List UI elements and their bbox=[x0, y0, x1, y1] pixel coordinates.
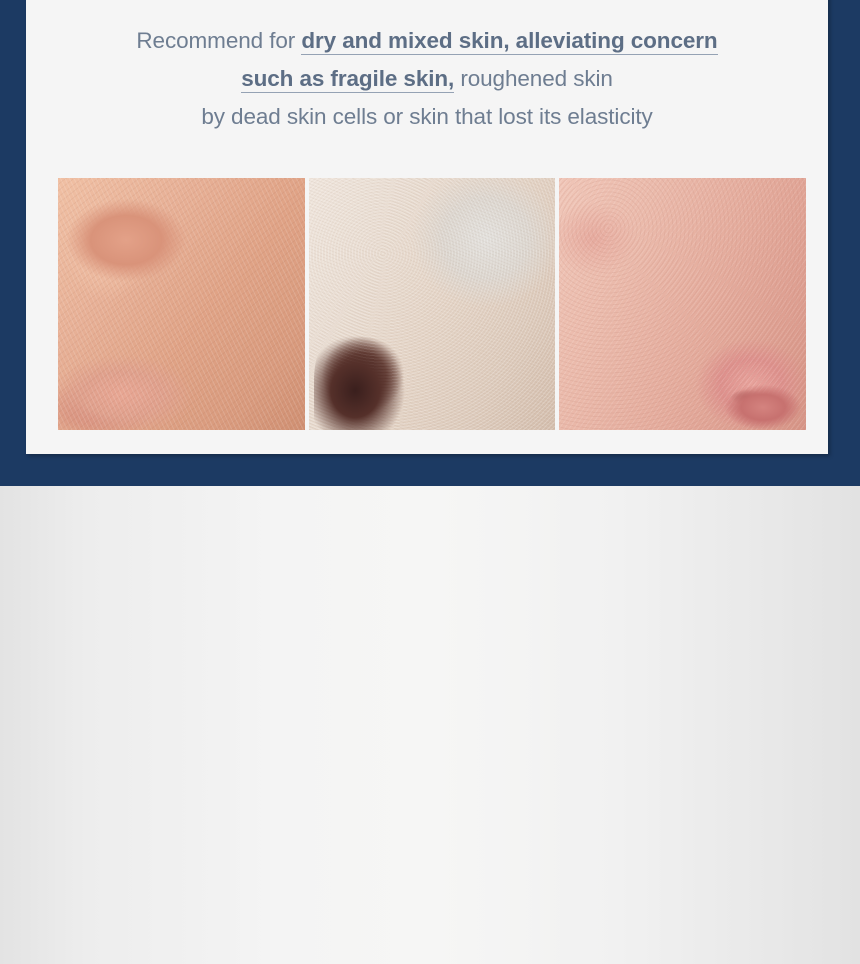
recommend-paragraph: Recommend for dry and mixed skin, allevi… bbox=[26, 22, 828, 136]
recommend-line1-lead: Recommend for bbox=[136, 28, 301, 53]
recommend-section: Recommend for dry and mixed skin, allevi… bbox=[0, 0, 860, 486]
skin-photo-strip bbox=[58, 178, 806, 430]
product-detail-page: Recommend for dry and mixed skin, allevi… bbox=[0, 0, 860, 964]
we-already-know-section: “We already know” That your skin needs t… bbox=[0, 486, 860, 964]
skin-photo-enlarged-pores bbox=[559, 178, 806, 430]
recommend-line2-rest: roughened skin bbox=[454, 66, 613, 91]
recommend-card: Recommend for dry and mixed skin, allevi… bbox=[26, 0, 828, 454]
recommend-line1-highlight: dry and mixed skin, alleviating concern bbox=[301, 28, 717, 55]
recommend-line3: by dead skin cells or skin that lost its… bbox=[201, 104, 652, 129]
skin-photo-rough-texture bbox=[309, 178, 556, 430]
recommend-line2-highlight: such as fragile skin, bbox=[241, 66, 454, 93]
skin-photo-dry-flaky bbox=[58, 178, 305, 430]
